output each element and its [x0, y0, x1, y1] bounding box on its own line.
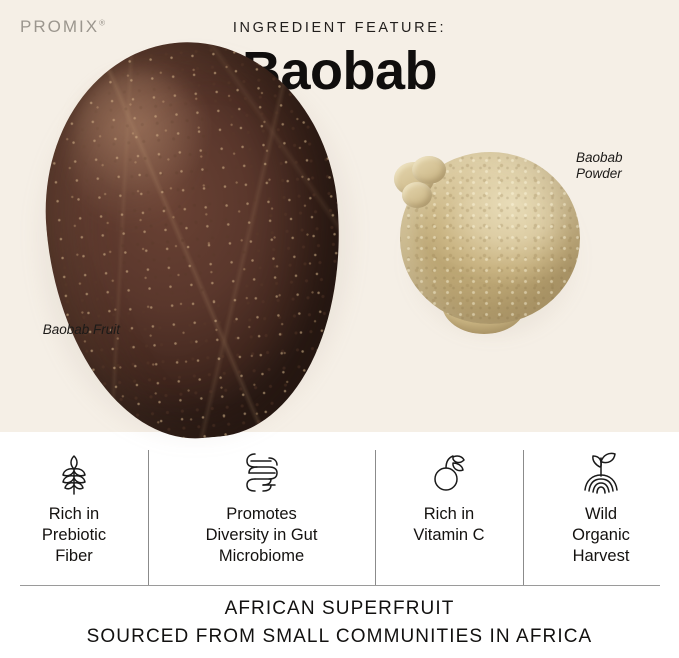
wheat-icon [57, 450, 91, 496]
benefit-item-gut-microbiome: Promotes Diversity in Gut Microbiome [148, 432, 375, 586]
hero-section: PROMIX® INGREDIENT FEATURE: Baobab Baoba… [0, 0, 679, 432]
powder-caption: Baobab Powder [576, 150, 672, 182]
ingredient-feature-card: PROMIX® INGREDIENT FEATURE: Baobab Baoba… [0, 0, 679, 658]
benefit-label: Rich in Prebiotic Fiber [42, 504, 106, 567]
fruit-speckle-texture [31, 30, 356, 450]
benefit-label: Promotes Diversity in Gut Microbiome [206, 504, 318, 567]
sprout-icon [579, 450, 623, 496]
eyebrow-text: INGREDIENT FEATURE: [0, 20, 679, 36]
footer-line-1: AFRICAN SUPERFRUIT [0, 595, 679, 623]
benefit-item-vitamin-c: Rich in Vitamin C [375, 432, 523, 586]
benefit-label: Rich in Vitamin C [413, 504, 484, 546]
fruit-body [31, 30, 356, 450]
powder-lump [402, 182, 432, 208]
footer-line-2: SOURCED FROM SMALL COMMUNITIES IN AFRICA [0, 623, 679, 651]
footer-section: AFRICAN SUPERFRUIT SOURCED FROM SMALL CO… [0, 595, 679, 651]
powder-body [400, 152, 580, 324]
benefit-item-prebiotic-fiber: Rich in Prebiotic Fiber [0, 432, 148, 586]
powder-lump [412, 156, 446, 184]
benefit-label: Wild Organic Harvest [572, 504, 630, 567]
benefits-row: Rich in Prebiotic Fiber Promotes Diversi… [0, 432, 679, 586]
orange-icon [429, 450, 469, 496]
fruit-caption: Baobab Fruit [20, 322, 120, 338]
benefit-item-wild-organic-harvest: Wild Organic Harvest [523, 432, 679, 586]
benefits-bottom-rule [20, 585, 660, 586]
baobab-fruit-image [30, 38, 360, 440]
intestine-icon [241, 450, 283, 496]
baobab-powder-image [392, 152, 592, 342]
